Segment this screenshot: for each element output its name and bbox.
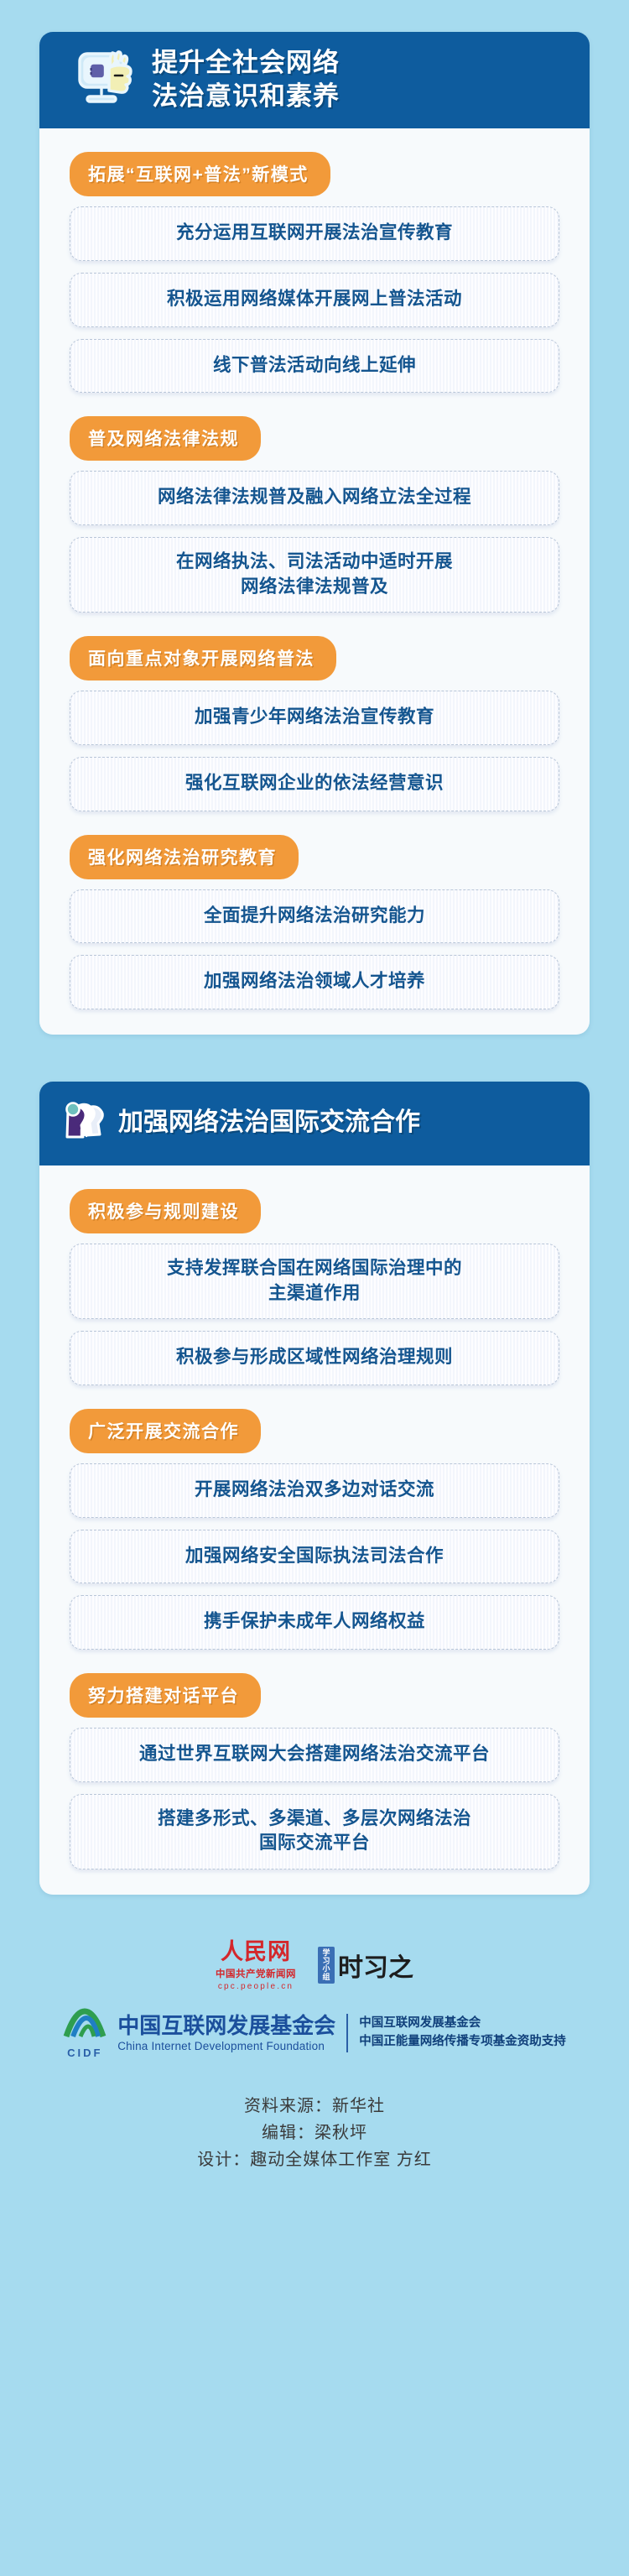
shixizhi-badge: 学习 小组 <box>318 1947 335 1984</box>
credit-source: 资料来源：新华社 <box>39 2093 590 2120</box>
list-item[interactable]: 加强网络安全国际执法司法合作 <box>70 1530 559 1584</box>
card-international-cooperation: 加强网络法治国际交流合作 积极参与规则建设 支持发挥联合国在网络国际治理中的 主… <box>39 1082 590 1895</box>
credit-designer: 设计：趣动全媒体工作室 方红 <box>39 2146 590 2173</box>
people-cn-logo[interactable]: 人民网 中国共产党新闻网 cpc.people.cn <box>216 1940 296 1991</box>
list-item[interactable]: 积极参与形成区域性网络治理规则 <box>70 1331 559 1385</box>
group-label-0: 积极参与规则建设 <box>70 1189 261 1233</box>
list-item[interactable]: 通过世界互联网大会搭建网络法治交流平台 <box>70 1728 559 1782</box>
shixizhi-word: 时习之 <box>338 1947 413 1984</box>
handshake-dialogue-icon <box>61 1098 113 1147</box>
list-item[interactable]: 强化互联网企业的依法经营意识 <box>70 757 559 811</box>
people-cn-logo-cn: 人民网 <box>216 1940 296 1965</box>
group-label-0: 拓展“互联网+普法”新模式 <box>70 152 330 196</box>
cidf-name-cn: 中国互联网发展基金会 <box>117 2013 335 2038</box>
cidf-name-en: China Internet Development Foundation <box>117 2040 335 2053</box>
card-body-public-awareness: 拓展“互联网+普法”新模式 充分运用互联网开展法治宣传教育 积极运用网络媒体开展… <box>39 128 590 1035</box>
list-item[interactable]: 网络法律法规普及融入网络立法全过程 <box>70 471 559 525</box>
group-label-1: 普及网络法律法规 <box>70 416 261 461</box>
group-label-2: 面向重点对象开展网络普法 <box>70 636 336 681</box>
card-title-public-awareness: 提升全社会网络 法治意识和素养 <box>152 46 340 112</box>
card-public-awareness: 提升全社会网络 法治意识和素养 拓展“互联网+普法”新模式 充分运用互联网开展法… <box>39 32 590 1035</box>
list-item[interactable]: 开展网络法治双多边对话交流 <box>70 1463 559 1518</box>
group-label-3: 强化网络法治研究教育 <box>70 835 299 879</box>
top-spacer <box>0 0 629 32</box>
credits: 资料来源：新华社 编辑：梁秋坪 设计：趣动全媒体工作室 方红 <box>39 2093 590 2203</box>
footer-logo-row: 人民网 中国共产党新闻网 cpc.people.cn 学习 小组 时习之 <box>39 1940 590 1991</box>
list-item[interactable]: 充分运用互联网开展法治宣传教育 <box>70 206 559 261</box>
cidf-mark-label: CIDF <box>63 2047 107 2059</box>
cidf-wave-icon <box>63 2008 107 2042</box>
section-spacer <box>0 1035 629 1082</box>
people-cn-logo-sub: 中国共产党新闻网 <box>216 1967 296 1980</box>
list-item[interactable]: 搭建多形式、多渠道、多层次网络法治 国际交流平台 <box>70 1794 559 1869</box>
cidf-support: 中国互联网发展基金会 中国正能量网络传播专项基金资助支持 <box>359 2015 566 2052</box>
card-body-international-cooperation: 积极参与规则建设 支持发挥联合国在网络国际治理中的 主渠道作用 积极参与形成区域… <box>39 1165 590 1895</box>
cidf-names: 中国互联网发展基金会 China Internet Development Fo… <box>117 2013 335 2053</box>
shixizhi-badge-line1: 学习 <box>320 1949 332 1965</box>
credit-editor: 编辑：梁秋坪 <box>39 2120 590 2146</box>
shixizhi-logo[interactable]: 学习 小组 时习之 <box>318 1947 413 1984</box>
people-cn-logo-url: cpc.people.cn <box>216 1982 296 1991</box>
list-item[interactable]: 加强青少年网络法治宣传教育 <box>70 691 559 745</box>
list-item[interactable]: 支持发挥联合国在网络国际治理中的 主渠道作用 <box>70 1244 559 1319</box>
footer: 人民网 中国共产党新闻网 cpc.people.cn 学习 小组 时习之 CID… <box>39 1895 590 2203</box>
list-item[interactable]: 积极运用网络媒体开展网上普法活动 <box>70 273 559 327</box>
cidf-support-line2: 中国正能量网络传播专项基金资助支持 <box>359 2033 566 2052</box>
thumbs-up-monitor-icon <box>75 50 137 110</box>
cidf-logo-mark: CIDF <box>63 2008 107 2059</box>
group-label-2: 努力搭建对话平台 <box>70 1673 261 1718</box>
card-header-international-cooperation: 加强网络法治国际交流合作 <box>39 1082 590 1165</box>
card-title-international-cooperation: 加强网络法治国际交流合作 <box>118 1107 420 1139</box>
group-label-1: 广泛开展交流合作 <box>70 1409 261 1453</box>
shixizhi-badge-line2: 小组 <box>320 1965 332 1981</box>
card-header-public-awareness: 提升全社会网络 法治意识和素养 <box>39 32 590 128</box>
cidf-support-line1: 中国互联网发展基金会 <box>359 2015 566 2033</box>
list-item[interactable]: 加强网络法治领域人才培养 <box>70 955 559 1009</box>
list-item[interactable]: 在网络执法、司法活动中适时开展 网络法律法规普及 <box>70 537 559 613</box>
footer-divider <box>346 2014 348 2052</box>
cidf-row: CIDF 中国互联网发展基金会 China Internet Developme… <box>39 2008 590 2059</box>
list-item[interactable]: 线下普法活动向线上延伸 <box>70 339 559 394</box>
list-item[interactable]: 全面提升网络法治研究能力 <box>70 889 559 944</box>
list-item[interactable]: 携手保护未成年人网络权益 <box>70 1595 559 1650</box>
